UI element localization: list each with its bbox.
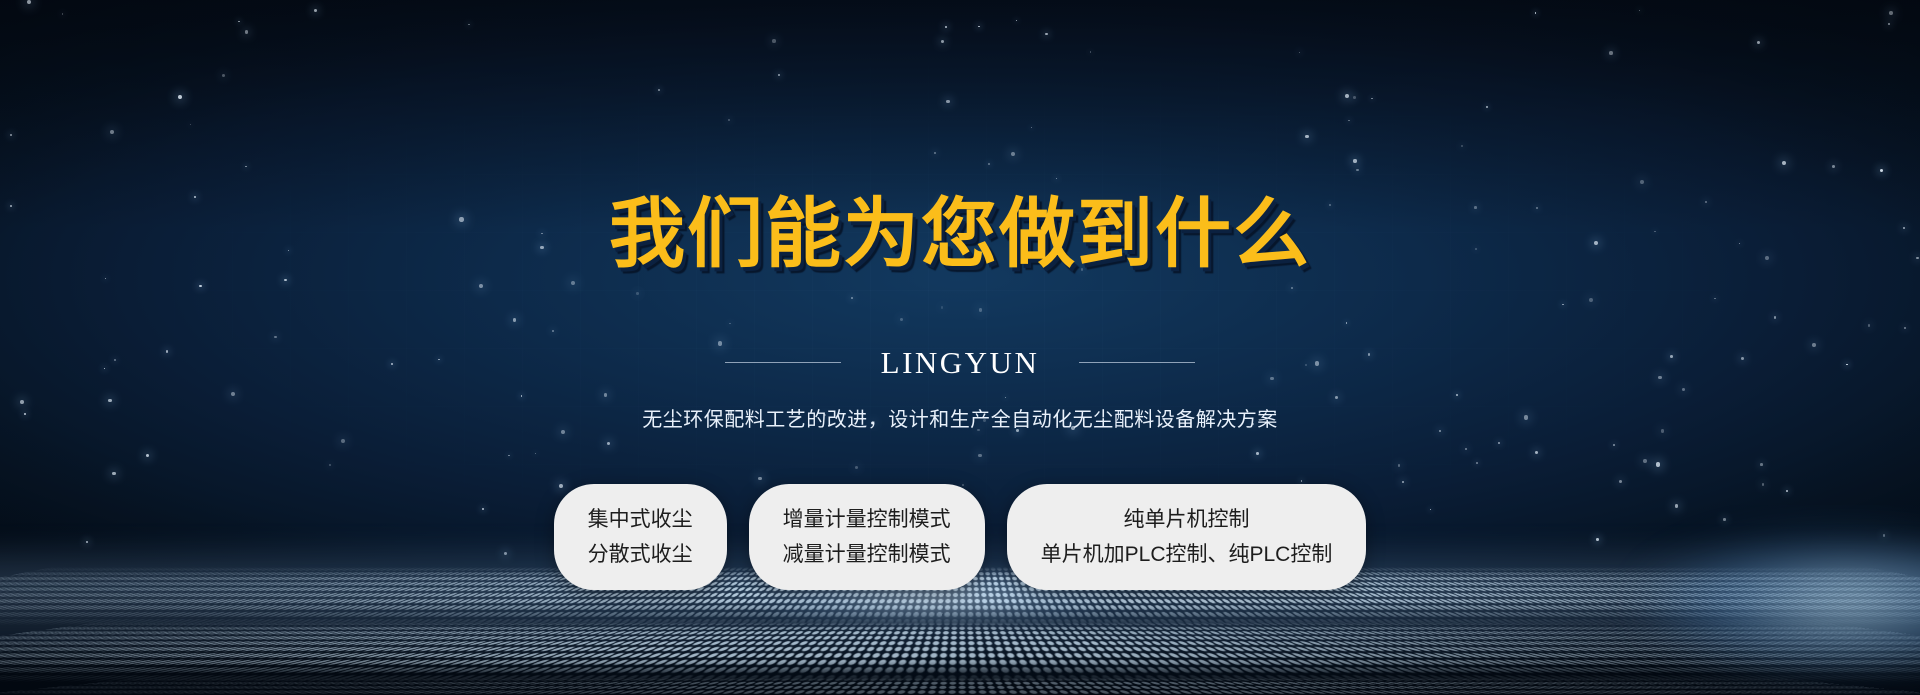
banner-headline: 我们能为您做到什么 [609,196,1311,272]
feature-pill-line-1: 纯单片机控制 [1123,508,1249,531]
feature-pill-line-1: 增量计量控制模式 [783,508,951,531]
banner-subtitle-en: LINGYUN [881,345,1040,381]
feature-pill-line-2: 分散式收尘 [588,543,693,566]
feature-pill-metering-mode[interactable]: 增量计量控制模式 减量计量控制模式 [749,484,985,590]
subtitle-row: LINGYUN [725,345,1196,381]
subtitle-rule-right [1079,362,1195,363]
feature-pill-line-2: 单片机加PLC控制、纯PLC控制 [1041,543,1333,566]
feature-pill-list: 集中式收尘 分散式收尘 增量计量控制模式 减量计量控制模式 纯单片机控制 单片机… [554,484,1367,590]
hero-banner: 我们能为您做到什么 LINGYUN 无尘环保配料工艺的改进，设计和生产全自动化无… [0,0,1920,695]
feature-pill-line-2: 减量计量控制模式 [783,543,951,566]
feature-pill-line-1: 集中式收尘 [588,508,693,531]
banner-content: 我们能为您做到什么 LINGYUN 无尘环保配料工艺的改进，设计和生产全自动化无… [0,0,1920,695]
banner-description: 无尘环保配料工艺的改进，设计和生产全自动化无尘配料设备解决方案 [642,403,1278,432]
feature-pill-dust-collection[interactable]: 集中式收尘 分散式收尘 [554,484,727,590]
subtitle-rule-left [725,362,841,363]
feature-pill-control-system[interactable]: 纯单片机控制 单片机加PLC控制、纯PLC控制 [1007,484,1367,590]
